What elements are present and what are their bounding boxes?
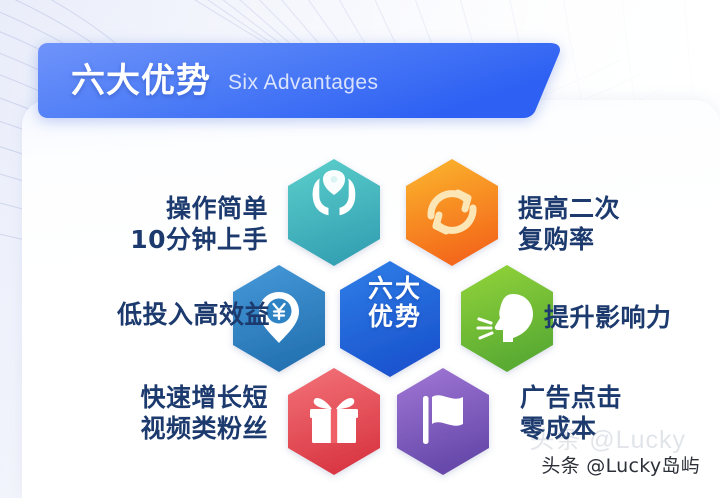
node-label-zero-ad-cost: 广告点击零成本	[520, 383, 700, 444]
node-label-repurchase-rate: 提高二次复购率	[518, 194, 698, 255]
node-label-line: 快速增长短	[96, 383, 268, 414]
banner-title-cn: 六大优势	[71, 64, 211, 98]
node-label-low-cost-high-roi: 低投入高效益	[48, 300, 270, 331]
banner-title-en: Six Advantages	[228, 68, 378, 93]
node-label-line: 零成本	[520, 414, 700, 445]
node-label-line: 提升影响力	[544, 303, 719, 334]
banner-text-group: 六大优势 Six Advantages	[38, 43, 566, 118]
section-header-banner: 六大优势 Six Advantages	[38, 43, 566, 118]
hex-node-influence[interactable]	[461, 265, 553, 372]
hexagon-center-blue	[340, 261, 440, 377]
node-label-line: 操作简单	[98, 194, 268, 225]
hex-node-repurchase-rate[interactable]	[406, 159, 498, 266]
node-label-influence: 提升影响力	[544, 303, 719, 334]
node-label-line: 复购率	[518, 225, 698, 256]
node-label-line: 提高二次	[518, 194, 698, 225]
node-label-line: 视频类粉丝	[96, 414, 268, 445]
node-label-fan-growth: 快速增长短视频类粉丝	[96, 383, 268, 444]
node-label-line: 广告点击	[520, 383, 700, 414]
node-label-line: 10分钟上手	[98, 225, 268, 256]
hexagon-orange	[406, 159, 498, 266]
hex-node-fan-growth[interactable]	[288, 368, 380, 475]
hex-node-ease-of-use[interactable]	[288, 159, 380, 266]
hex-node-zero-ad-cost[interactable]	[397, 368, 489, 475]
hex-node-center	[340, 261, 440, 377]
node-label-line: 低投入高效益	[48, 300, 270, 331]
node-label-ease-of-use: 操作简单10分钟上手	[98, 194, 268, 255]
